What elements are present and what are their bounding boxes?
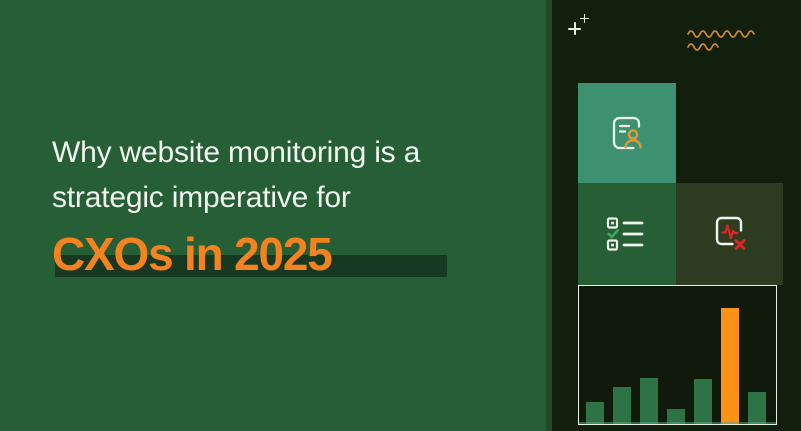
tile-downtime-alert-icon-wrap	[676, 214, 783, 254]
headline-block: Why website monitoring is a strategic im…	[52, 130, 522, 280]
banner-root: Why website monitoring is a strategic im…	[0, 0, 801, 431]
bar-chart-bars	[586, 294, 769, 424]
headline-line-2: strategic imperative for	[52, 175, 522, 220]
sparkle-cluster	[566, 12, 600, 40]
pulse-error-monitor-icon	[709, 214, 751, 254]
bar-chart-baseline	[579, 422, 776, 424]
headline-accent-wrap: CXOs in 2025	[52, 228, 522, 280]
plus-sparkle-small-icon	[580, 14, 589, 23]
bar-2	[613, 387, 631, 424]
plus-sparkle-icon	[568, 22, 581, 35]
bar-6	[721, 308, 739, 424]
bar-5	[694, 379, 712, 424]
tile-checklist-icon-wrap	[578, 216, 676, 252]
bar-1	[586, 402, 604, 424]
wavy-line-short	[688, 44, 718, 50]
bar-chart-panel	[578, 285, 777, 425]
wavy-lines-decoration	[686, 27, 770, 53]
tile-downtime-alert[interactable]	[676, 183, 783, 285]
bar-chart-plot	[579, 286, 776, 424]
headline-line-1: Why website monitoring is a	[52, 130, 522, 175]
tile-user-document-icon-wrap	[578, 112, 676, 154]
bar-7	[748, 392, 766, 425]
user-document-icon	[606, 112, 648, 154]
bar-3	[640, 378, 658, 424]
headline-accent-line: CXOs in 2025	[52, 228, 332, 280]
wavy-line-long	[688, 31, 754, 37]
tile-checklist[interactable]	[578, 183, 676, 285]
checklist-icon	[606, 216, 648, 252]
right-graphic-panel	[552, 0, 801, 431]
tile-user-document[interactable]	[578, 83, 676, 183]
